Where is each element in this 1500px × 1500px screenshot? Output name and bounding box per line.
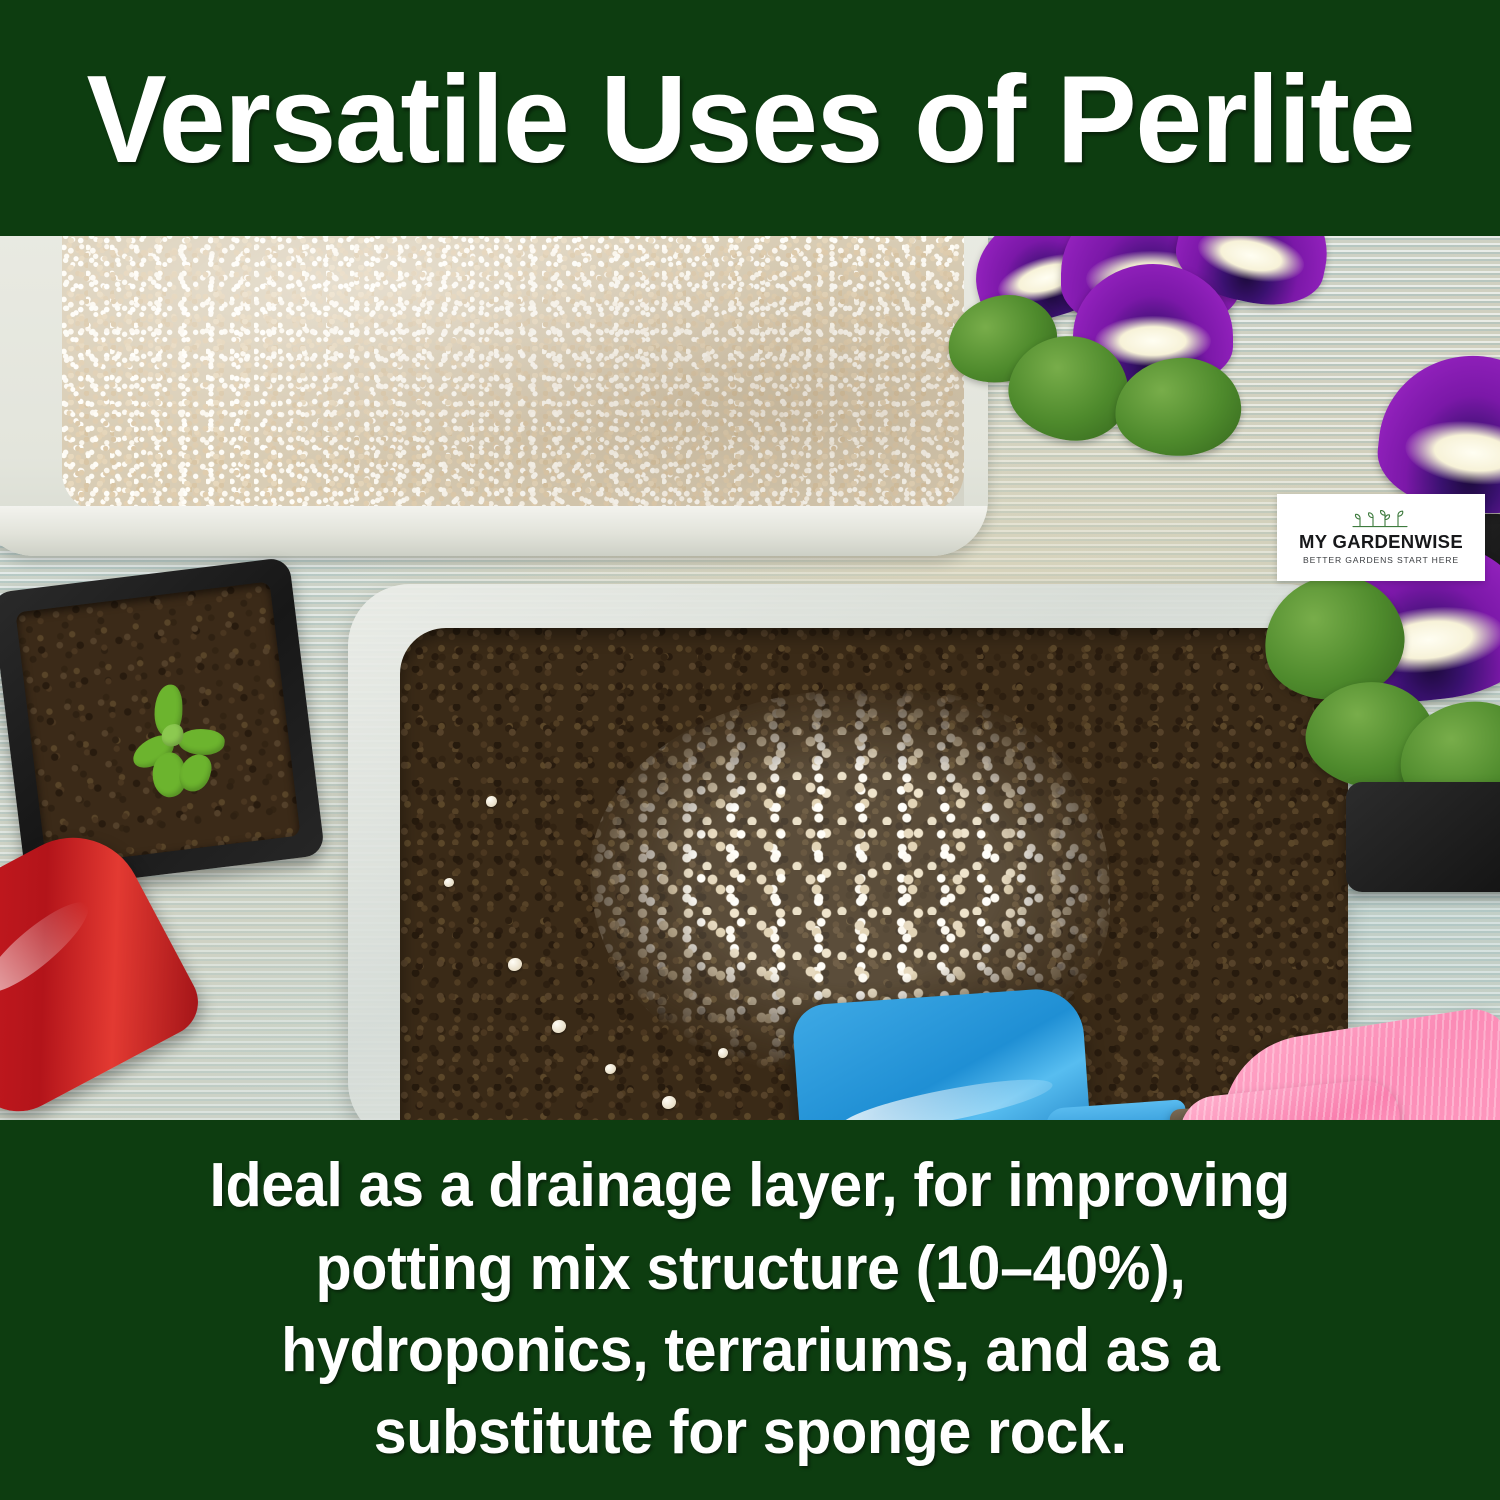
- perlite-tray-rim: [0, 506, 988, 556]
- photo-area: MY GARDENWISE BETTER GARDENS START HERE: [0, 236, 1500, 1120]
- pink-glove-hand: [1180, 1026, 1500, 1120]
- perlite-granules: [62, 236, 964, 512]
- pansy-flower-top: [965, 236, 1295, 448]
- header-band: Versatile Uses of Perlite: [0, 0, 1500, 236]
- caption-line-1: Ideal as a drainage layer, for improving: [210, 1145, 1291, 1227]
- logo-tagline: BETTER GARDENS START HERE: [1303, 556, 1459, 565]
- brand-logo: MY GARDENWISE BETTER GARDENS START HERE: [1277, 494, 1485, 581]
- caption-line-3: hydroponics, terrariums, and as a: [281, 1310, 1219, 1392]
- perlite-tray: [0, 236, 988, 556]
- seedling-sprouts-icon: [1350, 510, 1412, 530]
- infographic-canvas: Versatile Uses of Perlite: [0, 0, 1500, 1500]
- caption-band: Ideal as a drainage layer, for improving…: [0, 1120, 1500, 1500]
- caption-line-2: potting mix structure (10–40%),: [315, 1228, 1185, 1310]
- trowel-blade: [791, 986, 1099, 1120]
- logo-name: MY GARDENWISE: [1299, 533, 1463, 552]
- seedling-plant: [122, 683, 245, 806]
- caption-line-4: substitute for sponge rock.: [374, 1392, 1127, 1474]
- page-title: Versatile Uses of Perlite: [86, 58, 1414, 182]
